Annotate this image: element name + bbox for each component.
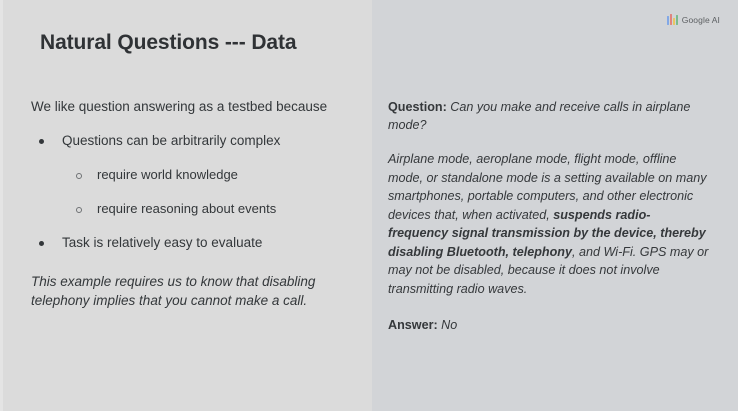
bullet-dot-icon [39,139,44,144]
left-edge-strip [0,0,3,411]
passage-text-before: Airplane mode, aeroplane mode, flight mo… [388,152,707,222]
bullet-dot-icon [39,241,44,246]
answer-block: Answer: No [388,316,710,334]
list-item-label: Questions can be arbitrarily complex [62,133,280,148]
bullet-circle-icon [76,207,82,213]
right-content-column: Question: Can you make and receive calls… [388,98,710,334]
list-item: Task is relatively easy to evaluate [31,234,361,252]
takeaway-note: This example requires us to know that di… [31,272,361,310]
left-content-column: We like question answering as a testbed … [31,98,361,310]
sub-bullet-list: require world knowledge require reasonin… [62,166,361,218]
google-ai-bars-icon [667,14,678,25]
lead-statement: We like question answering as a testbed … [31,98,361,116]
list-item-label: Task is relatively easy to evaluate [62,235,262,250]
list-item: require world knowledge [62,166,361,184]
slide-canvas: Natural Questions --- Data Google AI We … [0,0,738,411]
passage-block: Airplane mode, aeroplane mode, flight mo… [388,150,710,298]
brand-label: Google AI [682,15,720,25]
list-item-label: require reasoning about events [97,201,276,216]
answer-label: Answer: [388,318,438,332]
list-item: Questions can be arbitrarily complex req… [31,132,361,218]
list-item-label: require world knowledge [97,167,238,182]
bullet-list: Questions can be arbitrarily complex req… [31,132,361,252]
google-ai-logo: Google AI [667,14,720,25]
page-title: Natural Questions --- Data [40,31,296,55]
question-block: Question: Can you make and receive calls… [388,98,710,134]
question-label: Question: [388,100,447,114]
answer-text: No [438,318,458,332]
bullet-circle-icon [76,173,82,179]
list-item: require reasoning about events [62,200,361,218]
